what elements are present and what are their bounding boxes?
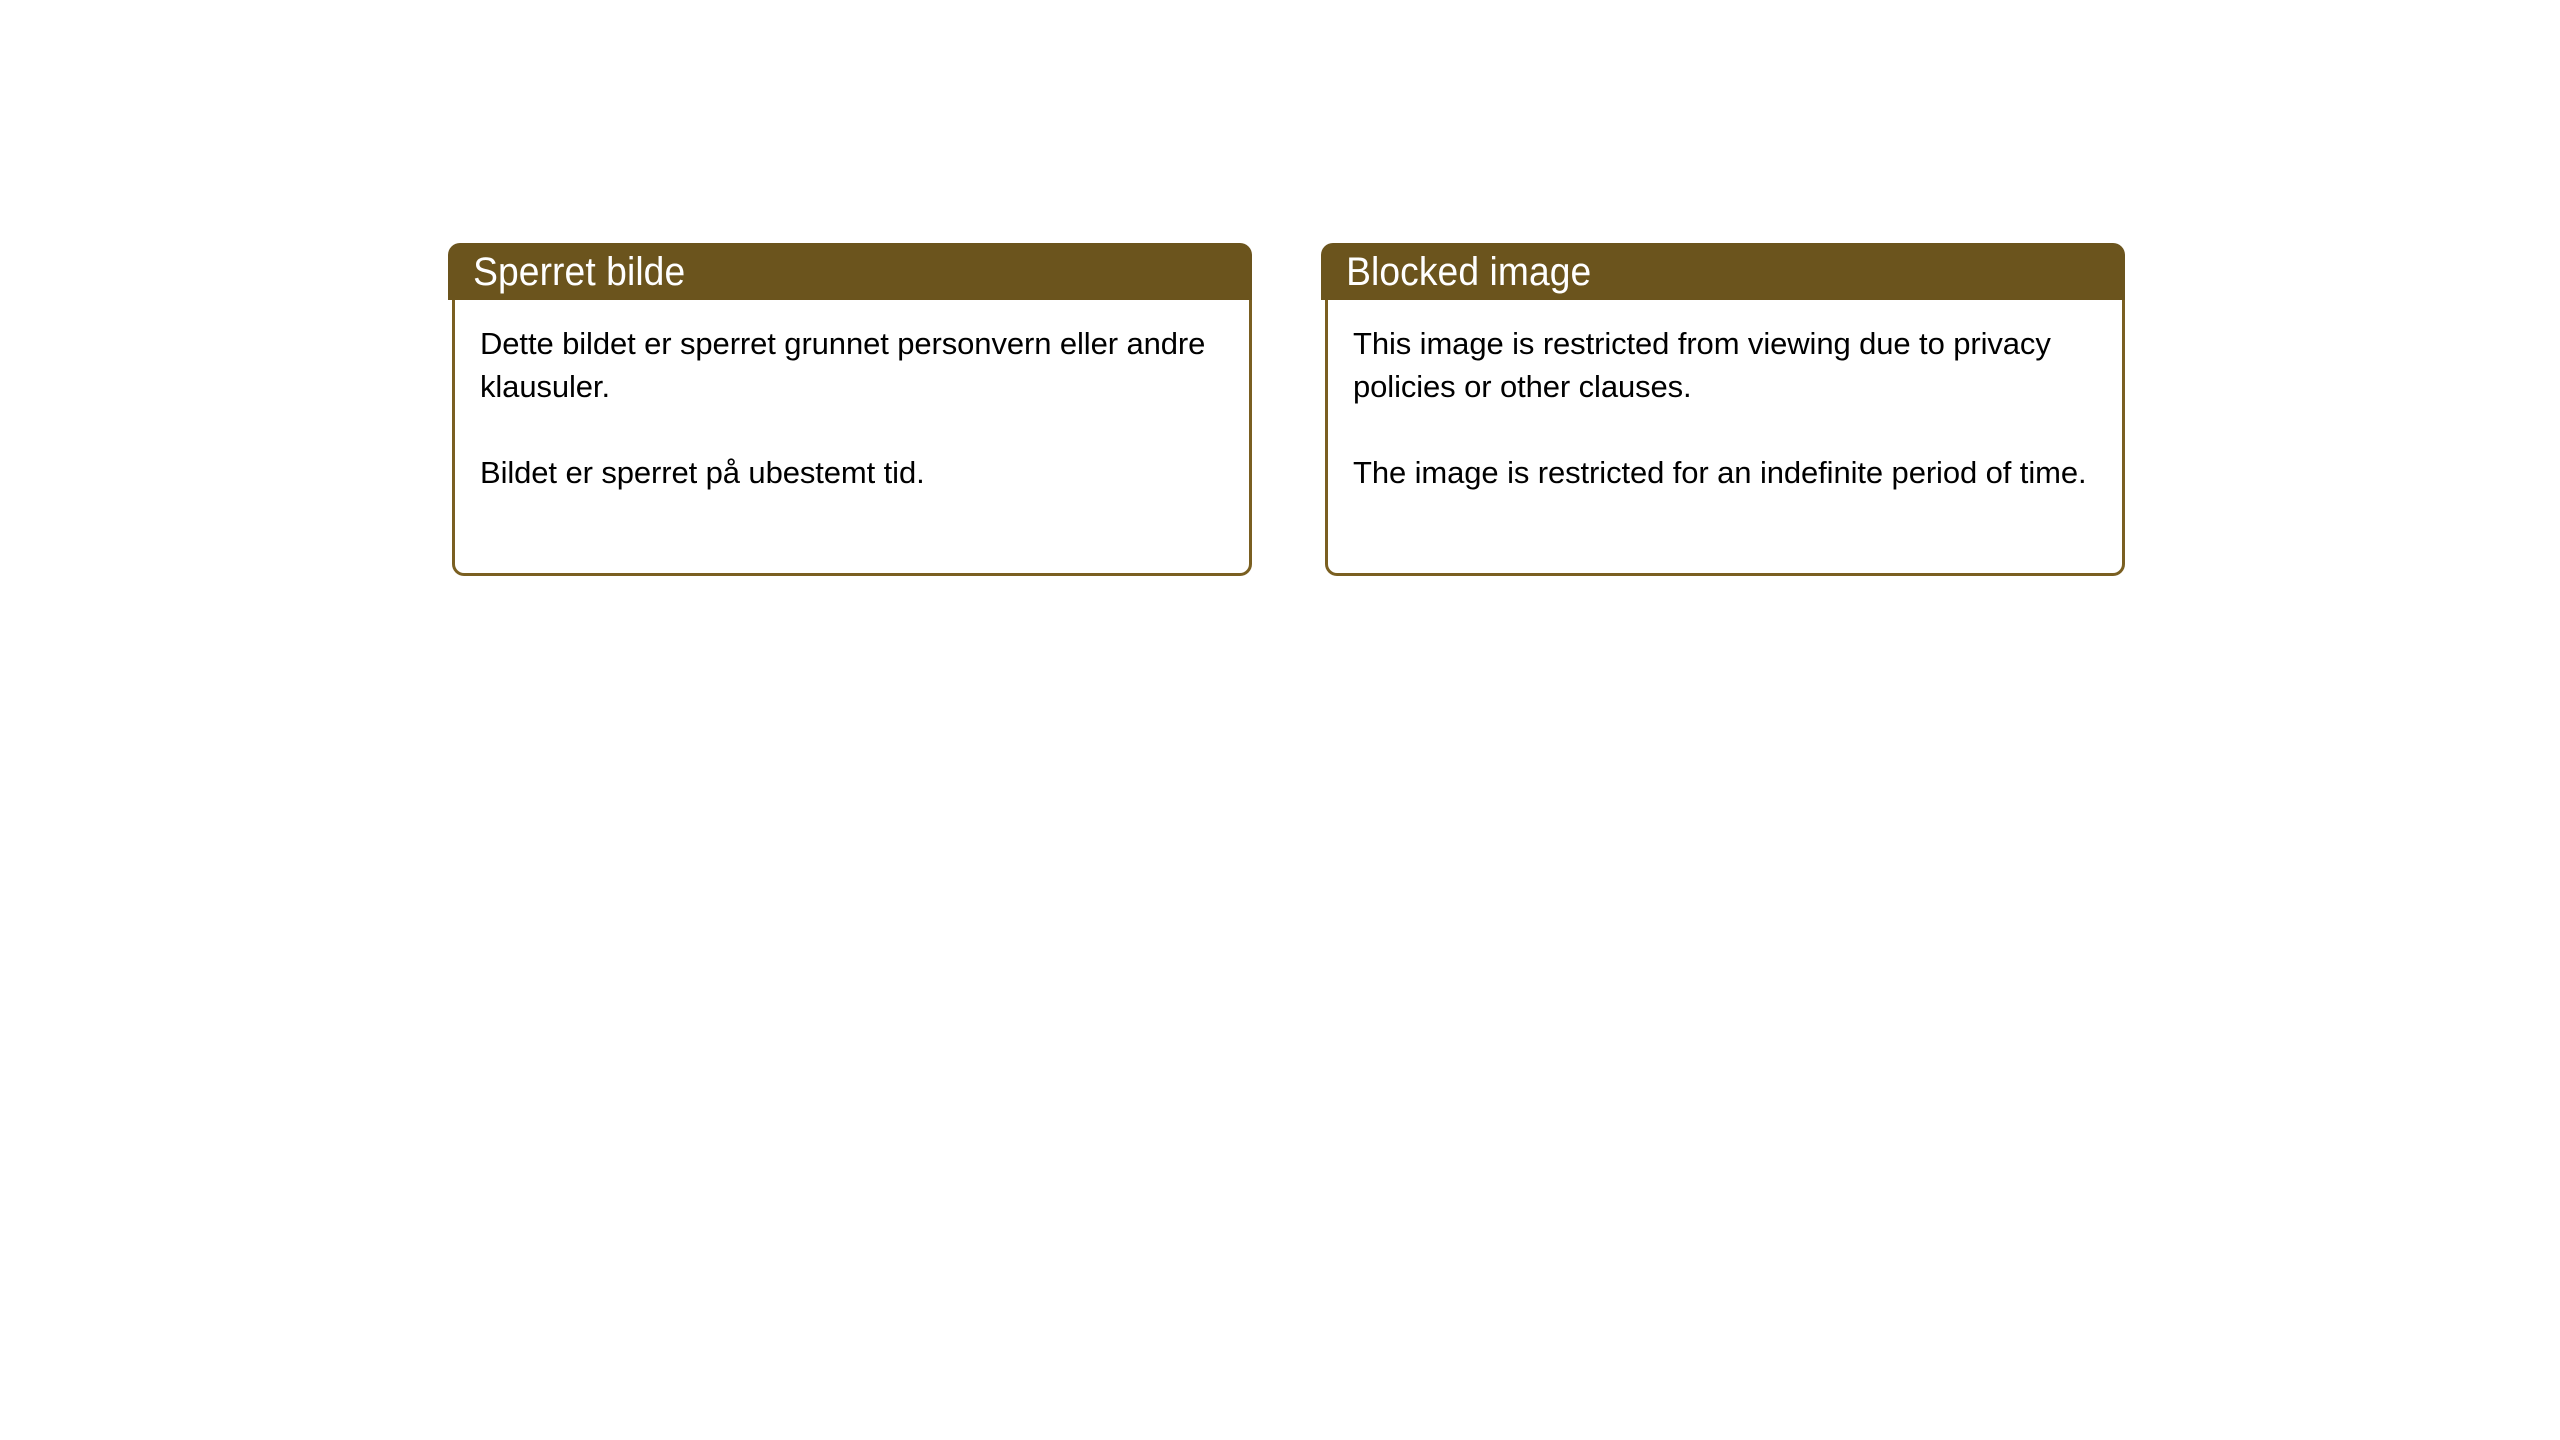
panel-paragraph-no-2: Bildet er sperret på ubestemt tid.: [480, 451, 1229, 494]
panel-paragraph-no-1: Dette bildet er sperret grunnet personve…: [480, 322, 1229, 408]
panel-header-en: Blocked image: [1321, 243, 2125, 300]
blocked-image-notice-no: Sperret bilde Dette bildet er sperret gr…: [452, 243, 1256, 576]
panel-paragraph-en-2: The image is restricted for an indefinit…: [1353, 451, 2102, 494]
panel-paragraph-en-1: This image is restricted from viewing du…: [1353, 322, 2102, 408]
page-canvas: Sperret bilde Dette bildet er sperret gr…: [0, 0, 2560, 1440]
panel-header-no: Sperret bilde: [448, 243, 1252, 300]
panel-body-no: Dette bildet er sperret grunnet personve…: [452, 300, 1252, 576]
blocked-image-notice-en: Blocked image This image is restricted f…: [1325, 243, 2129, 576]
panel-title-en: Blocked image: [1321, 252, 1591, 292]
panel-title-no: Sperret bilde: [448, 252, 685, 292]
panel-body-en: This image is restricted from viewing du…: [1325, 300, 2125, 576]
